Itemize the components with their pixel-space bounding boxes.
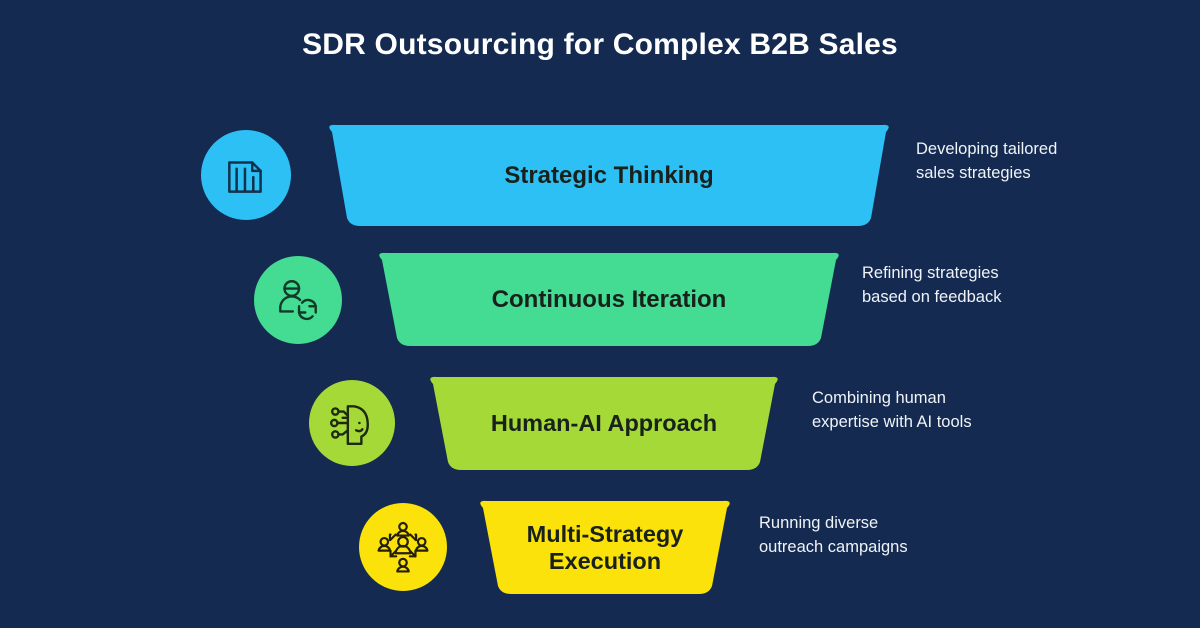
stage-2-label: Continuous Iteration xyxy=(492,286,727,314)
stage-1-icon-badge xyxy=(201,130,291,220)
stage-4-band[interactable]: Multi-Strategy Execution xyxy=(473,500,737,596)
stage-2-icon-badge xyxy=(254,256,342,344)
bar-chart-document-icon xyxy=(221,150,271,200)
stage-3-band[interactable]: Human-AI Approach xyxy=(423,376,785,472)
people-network-arrows-icon xyxy=(376,520,430,574)
page-title: SDR Outsourcing for Complex B2B Sales xyxy=(0,28,1200,62)
stage-1-description: Developing tailored sales strategies xyxy=(916,138,1156,186)
stage-3-icon-badge xyxy=(309,380,395,466)
stage-4-description: Running diverse outreach campaigns xyxy=(759,512,1009,560)
stage-3-description: Combining human expertise with AI tools xyxy=(812,387,1062,435)
stage-1-band[interactable]: Strategic Thinking xyxy=(322,124,896,228)
person-refresh-icon xyxy=(273,275,323,325)
infographic-canvas: SDR Outsourcing for Complex B2B Sales St… xyxy=(0,0,1200,628)
stage-4-icon-badge xyxy=(359,503,447,591)
ai-head-circuit-icon xyxy=(327,398,377,448)
stage-1-label: Strategic Thinking xyxy=(504,162,713,190)
stage-4-label: Multi-Strategy Execution xyxy=(527,521,684,576)
stage-2-description: Refining strategies based on feedback xyxy=(862,262,1107,310)
stage-3-label: Human-AI Approach xyxy=(491,410,717,437)
stage-2-band[interactable]: Continuous Iteration xyxy=(372,252,846,348)
